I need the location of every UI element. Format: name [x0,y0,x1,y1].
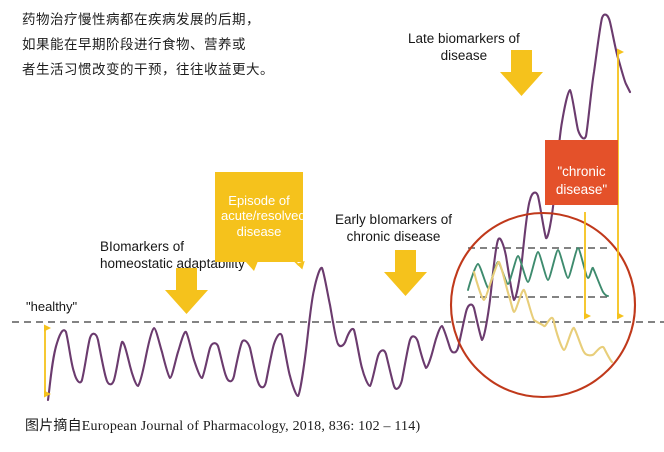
arrow-early-icon [384,250,427,296]
arrow-homeostatic-icon [165,268,208,314]
label-late-biomarkers: Late biomarkers of disease [408,31,520,64]
callout-chronic-text: "chronic disease" [556,164,607,197]
callout-episode-text: Episode of acute/resolved disease [221,193,306,239]
callout-tail [245,261,258,271]
callout-episode-acute-disease: Episode of acute/resolved disease [215,172,303,262]
source-caption: 图片摘自European Journal of Pharmacology, 20… [25,415,420,435]
label-early-biomarkers: Early bIomarkers of chronic disease [335,212,452,245]
series-inset-tan-biomarker [474,262,612,362]
intro-paragraph-chinese: 药物治疗慢性病都在疾病发展的后期， 如果能在早期阶段进行食物、营养或 者生活习惯… [22,8,342,83]
label-healthy: "healthy" [26,299,77,316]
callout-chronic-disease: "chronic disease" [545,140,618,205]
figure-root: 药物治疗慢性病都在疾病发展的后期， 如果能在早期阶段进行食物、营养或 者生活习惯… [0,0,664,452]
circle-inset-outline [451,213,635,397]
